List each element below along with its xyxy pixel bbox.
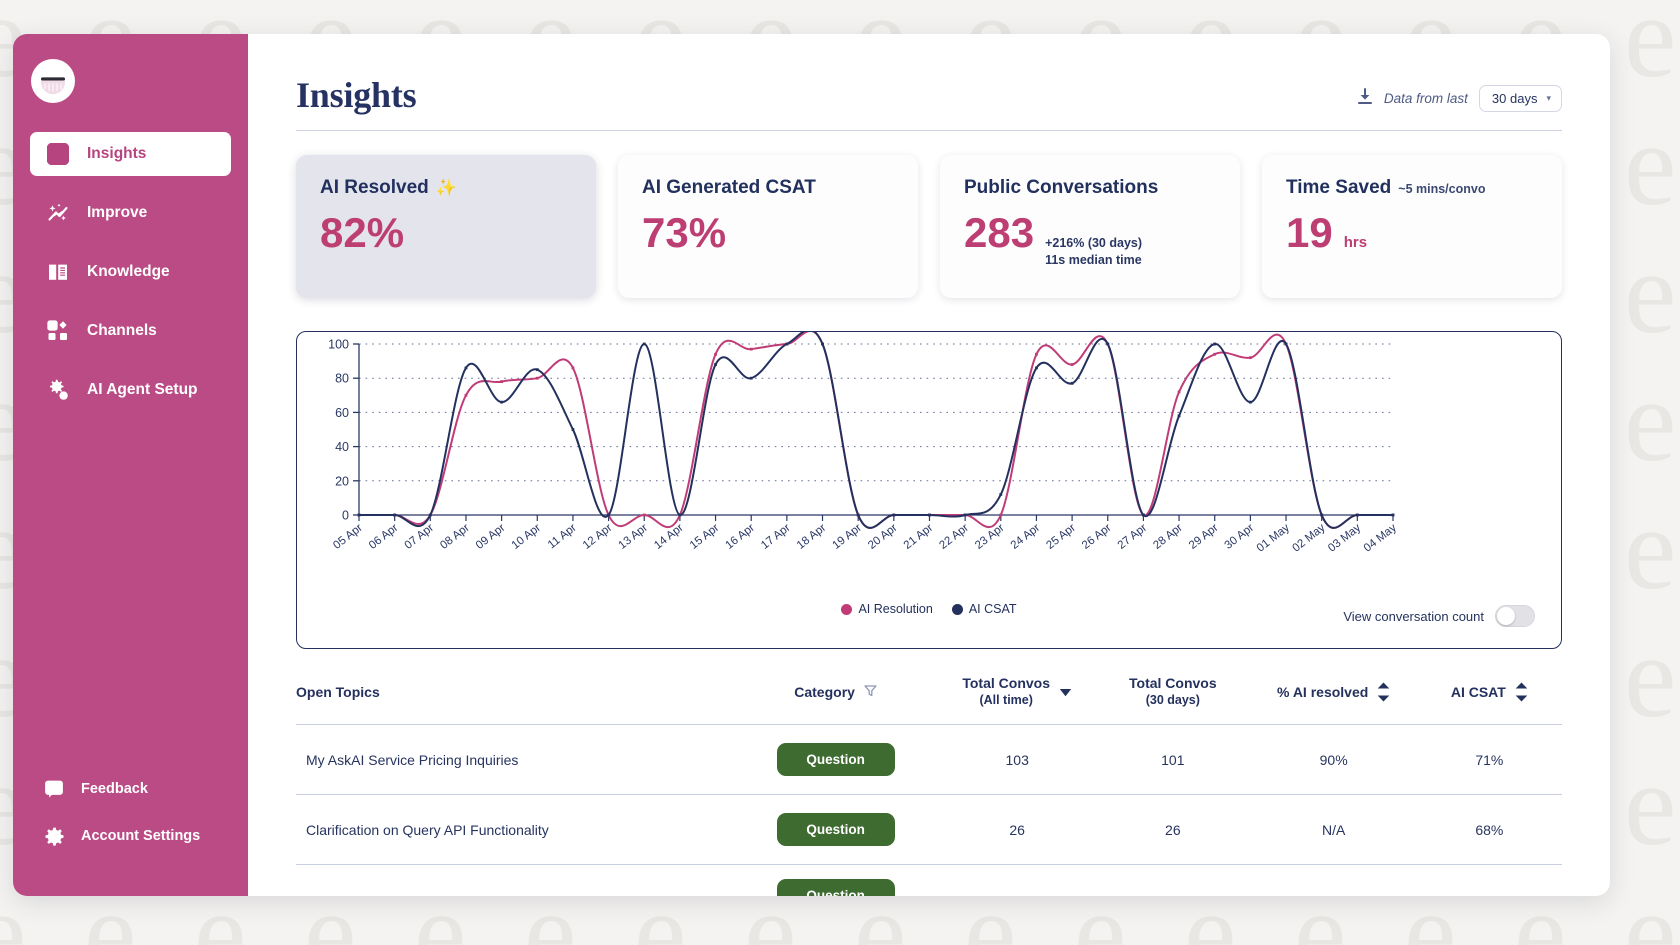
open-topics-table: Open Topics Category	[296, 675, 1562, 896]
sidebar-item-feedback[interactable]: Feedback	[30, 772, 231, 806]
app-window: Insights Improve	[13, 34, 1610, 896]
sidebar-item-ai-agent-setup[interactable]: AI Agent Setup	[30, 368, 231, 412]
kpi-unit: hrs	[1344, 234, 1367, 251]
kpi-value: 82%	[320, 211, 404, 255]
table-header-row: Open Topics Category	[296, 675, 1562, 725]
conversation-count-toggle-group: View conversation count	[1343, 605, 1535, 627]
cell-topic[interactable]: Clarification on Query API Functionality	[296, 795, 732, 865]
column-header-open-topics[interactable]: Open Topics	[296, 675, 732, 725]
column-label: Open Topics	[296, 684, 380, 700]
kpi-row: AI Resolved ✨ 82% AI Generated CSAT 73% …	[296, 155, 1562, 298]
cell-category: Question	[732, 795, 940, 865]
svg-text:06 Apr: 06 Apr	[367, 522, 401, 552]
cell-category: Question	[732, 725, 940, 795]
conversation-count-label: View conversation count	[1343, 609, 1484, 624]
svg-text:27 Apr: 27 Apr	[1116, 522, 1150, 552]
sidebar-item-label: Channels	[87, 322, 157, 340]
column-header-total-convos-30-days[interactable]: Total Convos (30 days)	[1095, 675, 1251, 725]
svg-text:26 Apr: 26 Apr	[1080, 522, 1114, 552]
category-pill[interactable]: Question	[777, 813, 895, 846]
kpi-card-time-saved[interactable]: Time Saved ~5 mins/convo 19 hrs	[1262, 155, 1562, 298]
sidebar-item-channels[interactable]: Channels	[30, 309, 231, 353]
sidebar-item-label: Knowledge	[87, 263, 170, 281]
column-header-ai-csat[interactable]: AI CSAT	[1417, 675, 1562, 725]
cell-total-all-time: 26	[939, 795, 1095, 865]
kpi-card-ai-resolved[interactable]: AI Resolved ✨ 82%	[296, 155, 596, 298]
svg-text:60: 60	[335, 406, 349, 420]
sidebar-item-label: Insights	[87, 145, 146, 163]
table-row[interactable]: My AskAI Service Pricing Inquiries Quest…	[296, 725, 1562, 795]
column-label: Total Convos	[1129, 675, 1217, 693]
chevron-down-icon: ▾	[1546, 93, 1551, 104]
book-icon	[47, 261, 69, 283]
bar-chart-icon	[47, 143, 69, 165]
kpi-note: +216% (30 days)	[1045, 236, 1142, 250]
kpi-note: 11s median time	[1045, 253, 1142, 267]
kpi-notes: +216% (30 days) 11s median time	[1045, 236, 1142, 270]
svg-text:10 Apr: 10 Apr	[510, 522, 544, 552]
svg-text:24 Apr: 24 Apr	[1009, 522, 1043, 552]
trend-chart[interactable]: 02040608010005 Apr06 Apr07 Apr08 Apr09 A…	[297, 332, 1427, 587]
main-content: Insights Data from last 30 days ▾	[248, 34, 1610, 896]
column-sublabel: (30 days)	[1146, 693, 1200, 709]
sidebar-item-label: Improve	[87, 204, 147, 222]
kpi-value: 19	[1286, 211, 1333, 255]
svg-text:15 Apr: 15 Apr	[688, 522, 722, 552]
kpi-card-ai-generated-csat[interactable]: AI Generated CSAT 73%	[618, 155, 918, 298]
cell-total-all-time	[939, 865, 1095, 896]
svg-text:09 Apr: 09 Apr	[474, 522, 508, 552]
sidebar-item-improve[interactable]: Improve	[30, 191, 231, 235]
svg-text:20 Apr: 20 Apr	[866, 522, 900, 552]
cell-total-30-days	[1095, 865, 1251, 896]
kpi-title-text: Time Saved	[1286, 177, 1391, 199]
svg-text:04 May: 04 May	[1362, 522, 1399, 555]
table-row[interactable]: Clarification on Query API Functionality…	[296, 795, 1562, 865]
page-title: Insights	[296, 74, 416, 116]
cell-ai-csat: 71%	[1417, 725, 1562, 795]
sidebar: Insights Improve	[13, 34, 248, 896]
cell-topic	[296, 865, 732, 896]
legend-label: AI CSAT	[969, 602, 1017, 616]
toggle-knob	[1497, 607, 1515, 625]
kpi-title: Time Saved ~5 mins/convo	[1286, 177, 1538, 199]
kpi-value-row: 73%	[642, 211, 894, 255]
svg-text:29 Apr: 29 Apr	[1187, 522, 1221, 552]
legend-item-ai-resolution[interactable]: AI Resolution	[841, 602, 932, 616]
kpi-title: AI Resolved ✨	[320, 177, 572, 199]
legend-color-swatch	[841, 604, 852, 615]
column-label: Total Convos	[962, 675, 1050, 693]
kpi-card-public-conversations[interactable]: Public Conversations 283 +216% (30 days)…	[940, 155, 1240, 298]
svg-text:11 Apr: 11 Apr	[546, 522, 579, 552]
svg-text:21 Apr: 21 Apr	[902, 522, 936, 552]
cell-total-all-time: 103	[939, 725, 1095, 795]
svg-text:12 Apr: 12 Apr	[581, 522, 615, 552]
svg-text:18 Apr: 18 Apr	[795, 522, 829, 552]
table-row-partial[interactable]: Question	[296, 865, 1562, 896]
column-header-pct-ai-resolved[interactable]: % AI resolved	[1251, 675, 1417, 725]
svg-text:17 Apr: 17 Apr	[759, 522, 793, 552]
cell-topic[interactable]: My AskAI Service Pricing Inquiries	[296, 725, 732, 795]
kpi-title-text: AI Generated CSAT	[642, 177, 816, 199]
svg-text:80: 80	[335, 372, 349, 386]
cell-ai-csat: 68%	[1417, 795, 1562, 865]
svg-text:25 Apr: 25 Apr	[1044, 522, 1078, 552]
svg-text:01 May: 01 May	[1255, 522, 1292, 555]
legend-label: AI Resolution	[858, 602, 932, 616]
header-controls: Data from last 30 days ▾	[1357, 85, 1562, 116]
kpi-value-row: 82%	[320, 211, 572, 255]
data-range-label: Data from last	[1384, 91, 1468, 106]
svg-text:05 Apr: 05 Apr	[331, 522, 365, 552]
open-topics-table-wrap: Open Topics Category	[296, 675, 1562, 896]
page-header: Insights Data from last 30 days ▾	[296, 74, 1562, 131]
kpi-title: Public Conversations	[964, 177, 1216, 199]
kpi-value: 283	[964, 211, 1034, 255]
column-sublabel: (All time)	[979, 693, 1032, 709]
magic-wand-icon	[47, 202, 69, 224]
svg-text:22 Apr: 22 Apr	[937, 522, 971, 552]
conversation-count-toggle[interactable]	[1495, 605, 1535, 627]
filter-icon[interactable]	[864, 684, 877, 700]
download-icon[interactable]	[1357, 88, 1373, 110]
kpi-value: 73%	[642, 211, 726, 255]
gears-icon	[47, 379, 69, 401]
kpi-value-row: 283 +216% (30 days) 11s median time	[964, 211, 1216, 270]
date-range-select[interactable]: 30 days ▾	[1479, 85, 1562, 112]
sidebar-item-account-settings[interactable]: Account Settings	[30, 819, 231, 853]
cell-total-30-days: 101	[1095, 725, 1251, 795]
cell-pct-ai-resolved: 90%	[1251, 725, 1417, 795]
svg-text:19 Apr: 19 Apr	[830, 522, 864, 552]
cell-ai-csat	[1417, 865, 1562, 896]
category-pill[interactable]: Question	[777, 879, 895, 896]
sidebar-bottom-nav: Feedback Account Settings	[13, 772, 248, 896]
kpi-title-text: Public Conversations	[964, 177, 1158, 199]
table-head: Open Topics Category	[296, 675, 1562, 725]
sort-updown-icon[interactable]	[1377, 682, 1390, 702]
sort-updown-icon[interactable]	[1515, 682, 1528, 702]
svg-text:20: 20	[335, 474, 349, 488]
sort-desc-icon[interactable]	[1059, 684, 1072, 700]
sidebar-item-label: Account Settings	[81, 828, 200, 844]
sidebar-nav: Insights Improve	[13, 132, 248, 427]
feedback-icon	[45, 780, 64, 799]
date-range-value: 30 days	[1492, 91, 1538, 106]
svg-text:30 Apr: 30 Apr	[1223, 522, 1257, 552]
svg-text:02 May: 02 May	[1290, 522, 1327, 555]
sparkles-icon: ✨	[436, 178, 457, 198]
column-label: AI CSAT	[1451, 684, 1506, 700]
sidebar-item-label: AI Agent Setup	[87, 381, 198, 399]
legend-item-ai-csat[interactable]: AI CSAT	[952, 602, 1017, 616]
legend-color-swatch	[952, 604, 963, 615]
column-label: % AI resolved	[1277, 684, 1368, 700]
sidebar-item-label: Feedback	[81, 781, 148, 797]
kpi-title: AI Generated CSAT	[642, 177, 894, 199]
gear-icon	[45, 827, 64, 846]
svg-text:40: 40	[335, 440, 349, 454]
column-header-total-convos-all-time[interactable]: Total Convos (All time)	[939, 675, 1095, 725]
cell-pct-ai-resolved: N/A	[1251, 795, 1417, 865]
kpi-value-row: 19 hrs	[1286, 211, 1538, 255]
kpi-subtitle: ~5 mins/convo	[1398, 182, 1485, 196]
svg-text:16 Apr: 16 Apr	[723, 522, 757, 552]
trend-chart-card: 02040608010005 Apr06 Apr07 Apr08 Apr09 A…	[296, 331, 1562, 649]
sidebar-item-insights[interactable]: Insights	[30, 132, 231, 176]
svg-text:0: 0	[342, 509, 349, 523]
table-body: My AskAI Service Pricing Inquiries Quest…	[296, 725, 1562, 896]
kpi-title-text: AI Resolved	[320, 177, 429, 199]
cell-pct-ai-resolved	[1251, 865, 1417, 896]
cell-total-30-days: 26	[1095, 795, 1251, 865]
sidebar-item-knowledge[interactable]: Knowledge	[30, 250, 231, 294]
column-label: Category	[794, 684, 855, 700]
column-header-category[interactable]: Category	[732, 675, 940, 725]
svg-text:08 Apr: 08 Apr	[438, 522, 472, 552]
grid-icon	[47, 320, 69, 342]
cell-category: Question	[732, 865, 940, 896]
svg-text:28 Apr: 28 Apr	[1151, 522, 1185, 552]
svg-text:100: 100	[328, 338, 349, 352]
category-pill[interactable]: Question	[777, 743, 895, 776]
app-logo[interactable]	[31, 59, 75, 103]
